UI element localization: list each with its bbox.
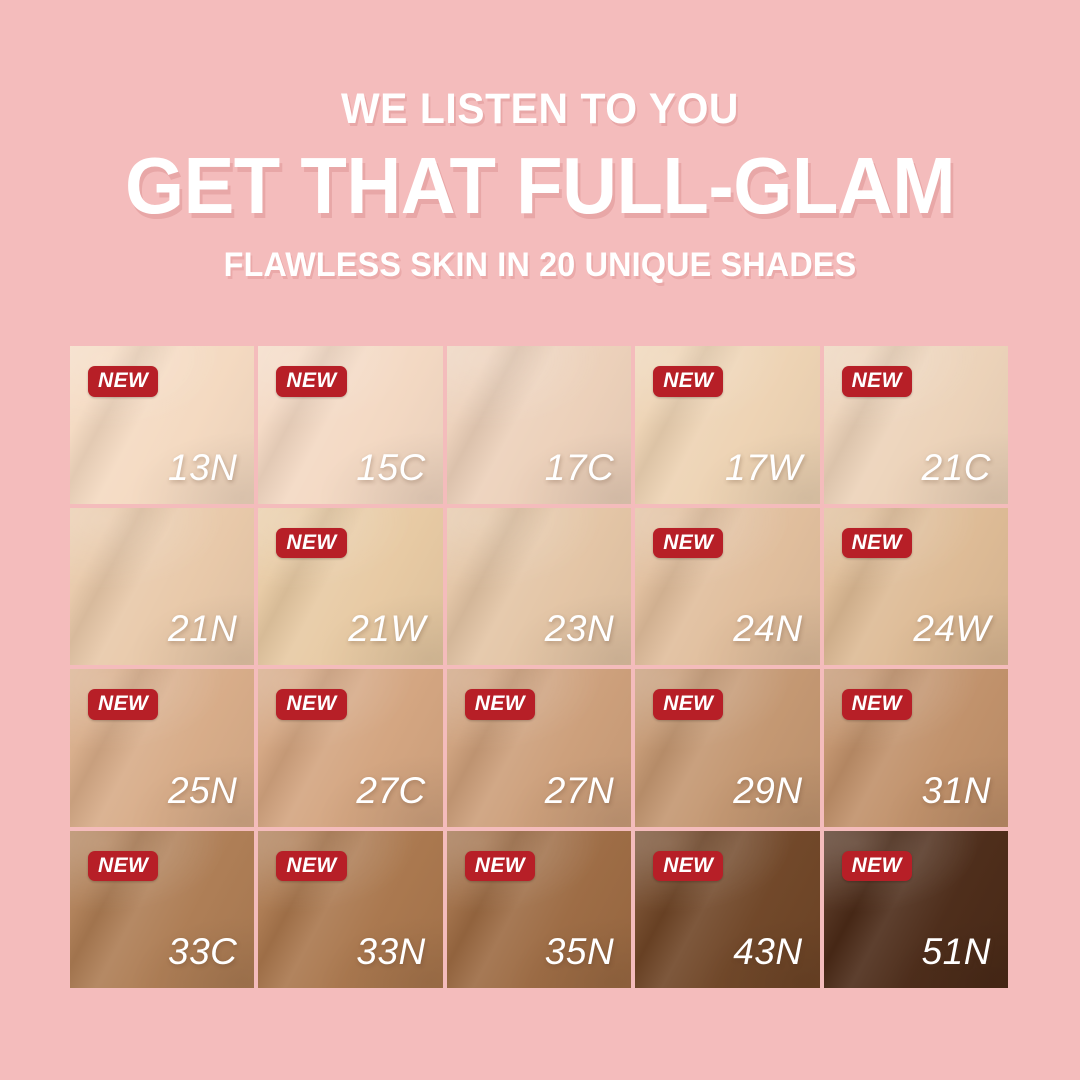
subtitle-text: FLAWLESS SKIN IN 20 UNIQUE SHADES xyxy=(27,226,1053,282)
shade-swatch[interactable]: NEW31N xyxy=(824,669,1008,827)
shade-code-label: 31N xyxy=(922,772,991,809)
shade-code-label: 27C xyxy=(356,772,425,809)
shade-code-label: 21N xyxy=(168,610,237,647)
new-badge: NEW xyxy=(465,851,535,882)
shade-code-label: 33C xyxy=(168,933,237,970)
new-badge: NEW xyxy=(276,528,346,559)
new-badge: NEW xyxy=(653,851,723,882)
shade-swatch[interactable]: NEW17W xyxy=(635,346,819,504)
shade-code-label: 17C xyxy=(545,449,614,486)
shade-code-label: 24W xyxy=(913,610,991,647)
shade-code-label: 13N xyxy=(168,449,237,486)
shade-code-label: 51N xyxy=(922,933,991,970)
shade-swatch[interactable]: NEW24N xyxy=(635,508,819,666)
shade-swatch[interactable]: NEW24W xyxy=(824,508,1008,666)
shade-swatch[interactable]: NEW13N xyxy=(70,346,254,504)
new-badge: NEW xyxy=(653,528,723,559)
new-badge: NEW xyxy=(842,366,912,397)
new-badge: NEW xyxy=(88,851,158,882)
new-badge: NEW xyxy=(842,528,912,559)
shade-code-label: 25N xyxy=(168,772,237,809)
shade-code-label: 35N xyxy=(545,933,614,970)
shade-swatch-grid: NEW13NNEW15CNEW17CNEW17WNEW21CNEW21NNEW2… xyxy=(70,346,1008,988)
shade-swatch[interactable]: NEW29N xyxy=(635,669,819,827)
shade-swatch[interactable]: NEW17C xyxy=(447,346,631,504)
new-badge: NEW xyxy=(276,851,346,882)
shade-code-label: 29N xyxy=(733,772,802,809)
shade-swatch[interactable]: NEW25N xyxy=(70,669,254,827)
new-badge: NEW xyxy=(88,366,158,397)
shade-code-label: 15C xyxy=(356,449,425,486)
new-badge: NEW xyxy=(276,689,346,720)
new-badge: NEW xyxy=(88,689,158,720)
new-badge: NEW xyxy=(276,366,346,397)
shade-code-label: 33N xyxy=(356,933,425,970)
shade-code-label: 43N xyxy=(733,933,802,970)
shade-swatch[interactable]: NEW23N xyxy=(447,508,631,666)
shade-swatch[interactable]: NEW21C xyxy=(824,346,1008,504)
shade-swatch[interactable]: NEW33C xyxy=(70,831,254,989)
new-badge: NEW xyxy=(653,689,723,720)
shade-swatch[interactable]: NEW27C xyxy=(258,669,442,827)
shade-swatch[interactable]: NEW21N xyxy=(70,508,254,666)
page-title: GET THAT FULL-GLAM xyxy=(27,132,1053,226)
shade-swatch[interactable]: NEW21W xyxy=(258,508,442,666)
new-badge: NEW xyxy=(653,366,723,397)
new-badge: NEW xyxy=(842,689,912,720)
shade-swatch[interactable]: NEW43N xyxy=(635,831,819,989)
shade-swatch[interactable]: NEW27N xyxy=(447,669,631,827)
shade-code-label: 17W xyxy=(725,449,803,486)
shade-swatch[interactable]: NEW51N xyxy=(824,831,1008,989)
shade-code-label: 24N xyxy=(733,610,802,647)
shade-code-label: 21W xyxy=(348,610,426,647)
shade-swatch[interactable]: NEW15C xyxy=(258,346,442,504)
shade-code-label: 27N xyxy=(545,772,614,809)
new-badge: NEW xyxy=(842,851,912,882)
shade-code-label: 23N xyxy=(545,610,614,647)
new-badge: NEW xyxy=(465,689,535,720)
eyebrow-text: WE LISTEN TO YOU xyxy=(27,0,1053,132)
shade-swatch[interactable]: NEW33N xyxy=(258,831,442,989)
shade-swatch[interactable]: NEW35N xyxy=(447,831,631,989)
shade-code-label: 21C xyxy=(922,449,991,486)
promo-header: WE LISTEN TO YOU GET THAT FULL-GLAM FLAW… xyxy=(0,0,1080,282)
